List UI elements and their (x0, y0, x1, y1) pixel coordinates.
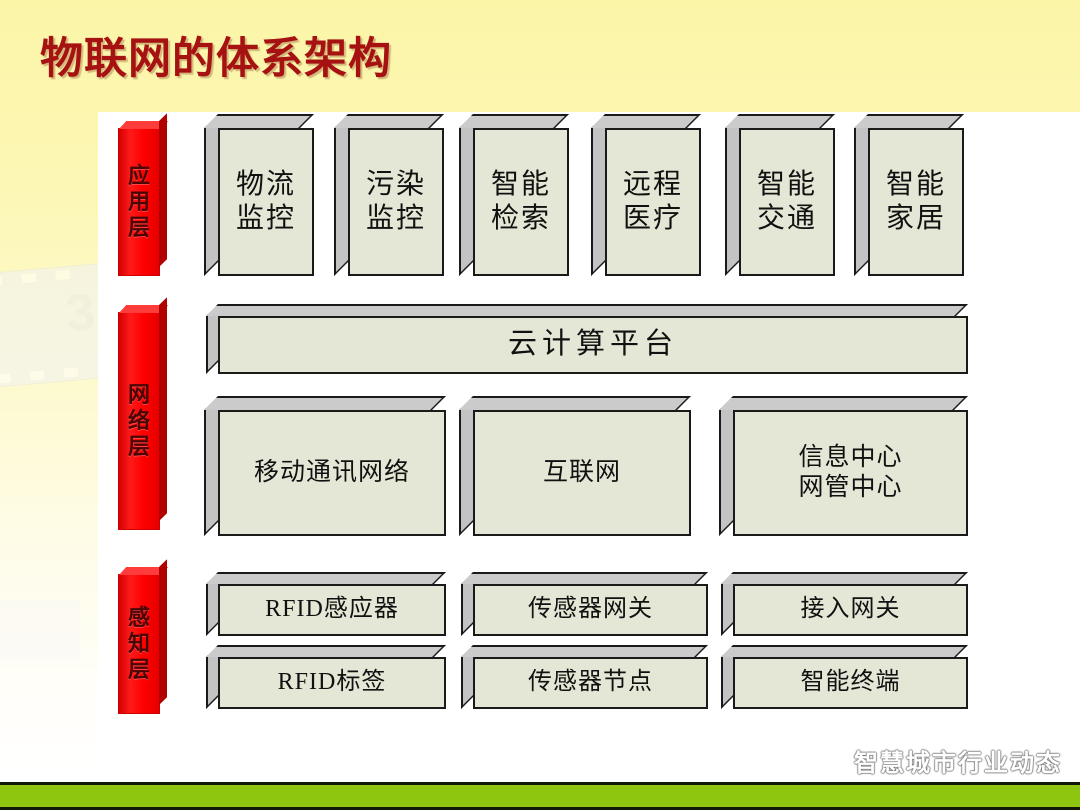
box-front-face: 远程 医疗 (605, 128, 701, 276)
layer-char: 层 (128, 434, 150, 460)
filmstrip-perforation (55, 270, 70, 280)
box-label: 智能 交通 (757, 168, 817, 236)
box-top-face (334, 114, 444, 128)
layer-label-network: 网 络 层 (119, 313, 159, 529)
box-front-face: 智能 检索 (473, 128, 569, 276)
sense-box-sensor-gateway[interactable]: 传感器网关 (473, 584, 708, 636)
layer-char: 层 (128, 657, 150, 683)
box-label: 信息中心 网管中心 (798, 443, 902, 504)
box-label: 移动通讯网络 (254, 458, 410, 489)
layer-pillar-application[interactable]: 应 用 层 (118, 128, 160, 276)
box-side-face (854, 114, 868, 276)
box-top-face (459, 396, 691, 410)
app-box-remote-medical[interactable]: 远程 医疗 (605, 128, 701, 276)
box-top-face (719, 396, 968, 410)
box-label: 智能 家居 (886, 168, 946, 236)
box-front-face: 智能 家居 (868, 128, 964, 276)
layer-char: 络 (128, 408, 150, 434)
box-top-face (206, 572, 446, 584)
box-side-face (459, 114, 473, 276)
footer-watermark: 智慧城市行业动态 (811, 743, 1062, 778)
layer-char: 知 (128, 631, 150, 657)
sense-box-smart-terminal[interactable]: 智能终端 (733, 657, 968, 709)
box-top-face (461, 572, 708, 584)
filmstrip-perforation (21, 273, 36, 283)
box-label: 物流 监控 (236, 168, 296, 236)
box-front-face: 智能终端 (733, 657, 968, 709)
filmstrip-perforation (0, 373, 11, 383)
box-front-face: RFID感应器 (218, 584, 446, 636)
box-front-face: 智能 交通 (739, 128, 835, 276)
box-label: 云计算平台 (508, 327, 678, 362)
page-title: 物联网的体系架构 (40, 24, 392, 86)
box-top-face (721, 572, 968, 584)
box-side-face (334, 114, 348, 276)
box-label: 污染 监控 (366, 168, 426, 236)
layer-char: 网 (128, 382, 150, 408)
box-label: 智能 检索 (491, 168, 551, 236)
net-box-info-center[interactable]: 信息中心 网管中心 (733, 410, 968, 536)
app-box-logistics-monitoring[interactable]: 物流 监控 (218, 128, 314, 276)
layer-label-application: 应 用 层 (119, 129, 159, 275)
box-top-face (721, 645, 968, 657)
app-box-pollution-monitoring[interactable]: 污染 监控 (348, 128, 444, 276)
filmstrip-perforation (64, 367, 79, 377)
footer-account-name: 智慧城市行业动态 (854, 743, 1062, 778)
bottom-accent-bar (0, 782, 1080, 810)
sense-box-rfid-tag[interactable]: RFID标签 (218, 657, 446, 709)
app-box-smart-home[interactable]: 智能 家居 (868, 128, 964, 276)
box-front-face: 移动通讯网络 (218, 410, 446, 536)
layer-label-sensing: 感 知 层 (119, 575, 159, 713)
box-side-face (204, 114, 218, 276)
box-front-face: 污染 监控 (348, 128, 444, 276)
architecture-diagram: 应 用 层 网 络 层 感 知 层 (98, 112, 1080, 780)
pillar-side-face (159, 297, 167, 521)
box-front-face: 云计算平台 (218, 316, 968, 374)
box-top-face (725, 114, 835, 128)
layer-char: 感 (128, 605, 150, 631)
wechat-icon (811, 748, 845, 774)
filmstrip-perforation (0, 276, 2, 286)
box-label: 传感器网关 (528, 595, 653, 624)
box-top-face (204, 114, 314, 128)
box-top-face (591, 114, 701, 128)
box-label: 接入网关 (801, 595, 901, 624)
box-front-face: 物流 监控 (218, 128, 314, 276)
box-top-face (204, 396, 446, 410)
box-side-face (204, 396, 218, 536)
box-front-face: 接入网关 (733, 584, 968, 636)
box-top-face (206, 645, 446, 657)
box-side-face (719, 396, 733, 536)
pillar-side-face (159, 559, 167, 705)
box-front-face: 传感器节点 (473, 657, 708, 709)
box-label: RFID感应器 (265, 595, 399, 624)
layer-char: 层 (128, 215, 150, 241)
pillar-side-face (159, 113, 167, 267)
layer-pillar-sensing[interactable]: 感 知 层 (118, 574, 160, 714)
filmstrip-decoration-bottom-left (0, 600, 80, 660)
box-front-face: 信息中心 网管中心 (733, 410, 968, 536)
box-front-face: 互联网 (473, 410, 691, 536)
box-top-face (461, 645, 708, 657)
sense-box-rfid-sensor[interactable]: RFID感应器 (218, 584, 446, 636)
app-box-smart-transport[interactable]: 智能 交通 (739, 128, 835, 276)
box-label: 互联网 (543, 458, 621, 489)
cloud-computing-platform-bar[interactable]: 云计算平台 (218, 316, 968, 374)
filmstrip-perforation (30, 370, 45, 380)
box-label: 传感器节点 (528, 668, 653, 697)
layer-char: 用 (128, 189, 150, 215)
app-box-smart-search[interactable]: 智能 检索 (473, 128, 569, 276)
box-top-face (206, 304, 968, 316)
box-top-face (459, 114, 569, 128)
slide-canvas: 3 物联网的体系架构 应 用 层 网 络 (0, 0, 1080, 810)
box-side-face (459, 396, 473, 536)
sense-box-sensor-node[interactable]: 传感器节点 (473, 657, 708, 709)
sense-box-access-gateway[interactable]: 接入网关 (733, 584, 968, 636)
layer-pillar-network[interactable]: 网 络 层 (118, 312, 160, 530)
net-box-internet[interactable]: 互联网 (473, 410, 691, 536)
box-side-face (591, 114, 605, 276)
box-front-face: 传感器网关 (473, 584, 708, 636)
box-top-face (854, 114, 964, 128)
box-front-face: RFID标签 (218, 657, 446, 709)
box-label: 远程 医疗 (623, 168, 683, 236)
box-label: 智能终端 (801, 668, 901, 697)
box-side-face (725, 114, 739, 276)
net-box-mobile-comm-network[interactable]: 移动通讯网络 (218, 410, 446, 536)
layer-char: 应 (128, 163, 150, 189)
filmstrip-number: 3 (64, 282, 98, 344)
box-label: RFID标签 (278, 668, 387, 697)
